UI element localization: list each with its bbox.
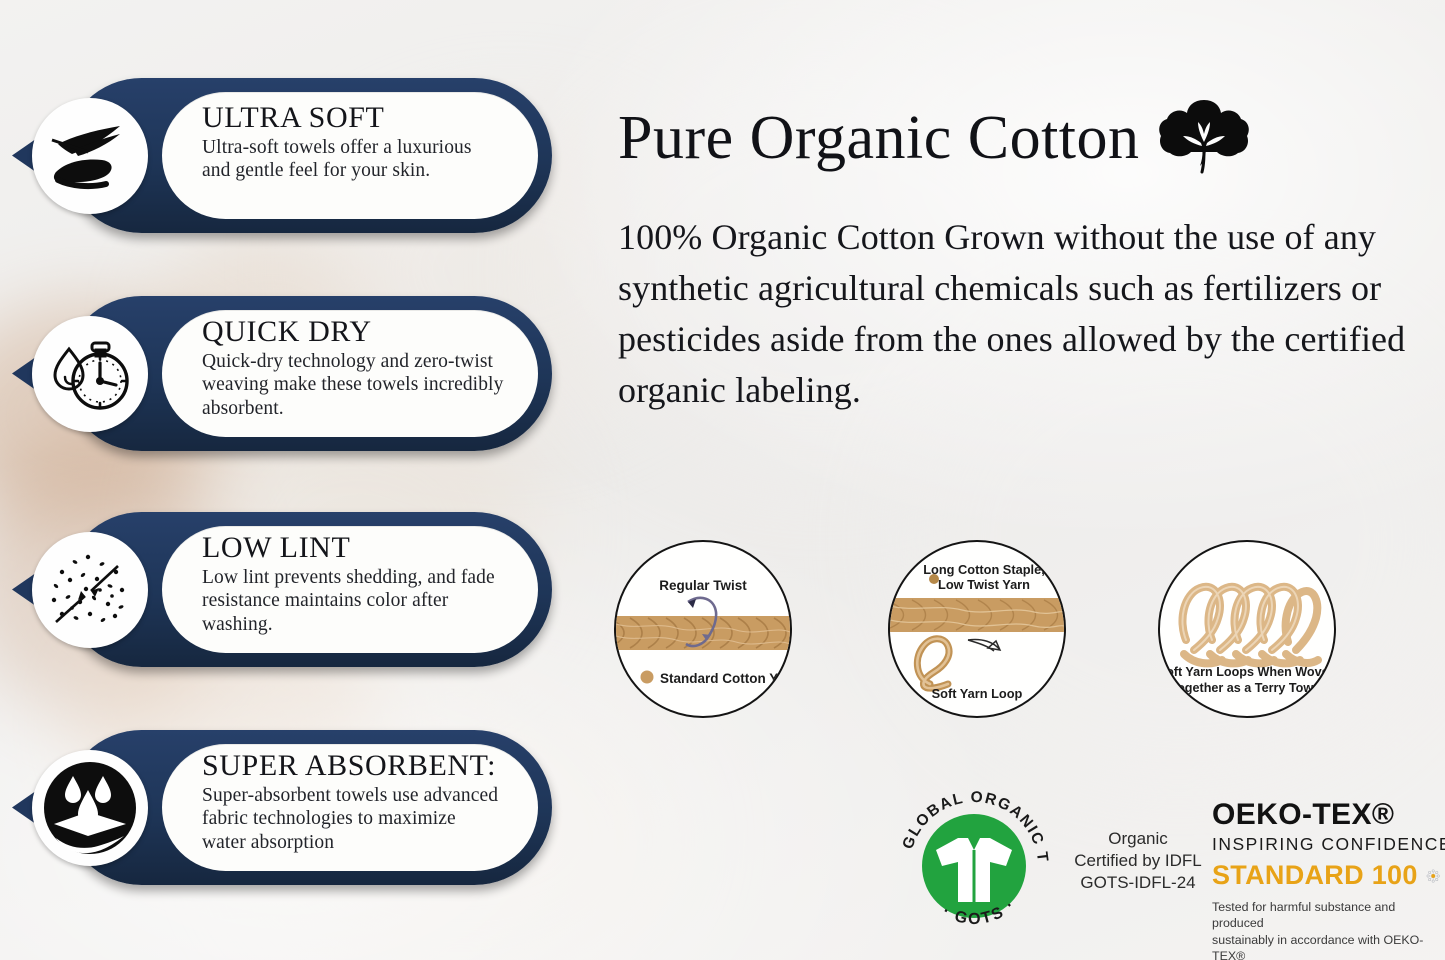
page-title: Pure Organic Cotton bbox=[618, 107, 1140, 169]
headline-row: Pure Organic Cotton bbox=[618, 96, 1252, 180]
badge-title: QUICK DRY bbox=[202, 316, 504, 348]
oekotex-brand: OEKO-TEX® bbox=[1212, 800, 1440, 831]
right-content: Pure Organic Cotton 100% Organic Cotton … bbox=[600, 0, 1445, 960]
yarn-top-label-line1: Long Cotton Staple, bbox=[923, 562, 1045, 577]
badge-panel: LOW LINT Low lint prevents shedding, and… bbox=[162, 526, 538, 653]
yarn-diagram-row: Regular Twist Standard Cotton Yarn bbox=[600, 540, 1445, 720]
oekotex-flower-icon bbox=[1426, 857, 1440, 895]
badge-description: Quick-dry technology and zero-twist weav… bbox=[202, 350, 504, 421]
oekotex-tagline: INSPIRING CONFIDENCE bbox=[1212, 831, 1440, 857]
badge-title: ULTRA SOFT bbox=[202, 102, 504, 134]
badge-description: Low lint prevents shedding, and fade res… bbox=[202, 566, 504, 637]
oekotex-fine-line-2: sustainably in accordance with OEKO-TEX® bbox=[1212, 932, 1440, 960]
yarn-bottom-label: Standard Cotton Yarn bbox=[660, 671, 790, 686]
yarn-bottom-label-line1: Soft Yarn Loops When Woven bbox=[1160, 665, 1334, 679]
gots-certification-info: Organic Certified by IDFL GOTS-IDFL-24 bbox=[1062, 828, 1214, 893]
yarn-bottom-label: Soft Yarn Loop bbox=[932, 686, 1023, 701]
feature-badge-ultra-soft[interactable]: ULTRA SOFT Ultra-soft towels offer a lux… bbox=[12, 78, 552, 233]
gots-info-line-3: GOTS-IDFL-24 bbox=[1062, 872, 1214, 894]
badge-title: SUPER ABSORBENT: bbox=[202, 750, 504, 782]
lint-particles-icon bbox=[32, 532, 148, 648]
badge-panel: SUPER ABSORBENT: Super-absorbent towels … bbox=[162, 744, 538, 871]
certification-row: GLOBAL ORGANIC TEXTILE STANDARD · GOTS ·… bbox=[600, 780, 1445, 960]
badge-panel: QUICK DRY Quick-dry technology and zero-… bbox=[162, 310, 538, 437]
yarn-bottom-label-line2: Together as a Terry Towel bbox=[1170, 681, 1323, 695]
feature-badge-quick-dry[interactable]: QUICK DRY Quick-dry technology and zero-… bbox=[12, 296, 552, 451]
feather-in-hand-icon bbox=[32, 98, 148, 214]
oekotex-certification: OEKO-TEX® INSPIRING CONFIDENCE STANDARD … bbox=[1212, 800, 1440, 960]
oekotex-fine-line-1: Tested for harmful substance and produce… bbox=[1212, 899, 1440, 932]
yarn-diagram-regular-twist: Regular Twist Standard Cotton Yarn bbox=[614, 540, 792, 718]
yarn-diagram-terry-loops: Soft Yarn Loops When Woven Together as a… bbox=[1158, 540, 1336, 718]
water-droplets-fabric-icon bbox=[32, 750, 148, 866]
gots-info-line-2: Certified by IDFL bbox=[1062, 850, 1214, 872]
yarn-top-label: Regular Twist bbox=[659, 578, 747, 593]
feature-badge-list: ULTRA SOFT Ultra-soft towels offer a lux… bbox=[0, 0, 600, 960]
badge-description: Super-absorbent towels use advanced fabr… bbox=[202, 784, 504, 855]
intro-paragraph: 100% Organic Cotton Grown without the us… bbox=[618, 212, 1426, 416]
badge-title: LOW LINT bbox=[202, 532, 504, 564]
yarn-diagram-low-twist: Long Cotton Staple, Low Twist Yarn Soft … bbox=[888, 540, 1066, 718]
yarn-top-label-line2: Low Twist Yarn bbox=[938, 577, 1030, 592]
gots-seal-icon: GLOBAL ORGANIC TEXTILE STANDARD · GOTS · bbox=[892, 784, 1056, 948]
badge-description: Ultra-soft towels offer a luxurious and … bbox=[202, 136, 504, 184]
gots-info-line-1: Organic bbox=[1062, 828, 1214, 850]
stopwatch-droplet-icon bbox=[32, 316, 148, 432]
cotton-boll-icon bbox=[1156, 96, 1252, 180]
feature-badge-super-absorbent[interactable]: SUPER ABSORBENT: Super-absorbent towels … bbox=[12, 730, 552, 885]
feature-badge-low-lint[interactable]: LOW LINT Low lint prevents shedding, and… bbox=[12, 512, 552, 667]
oekotex-standard: STANDARD 100 bbox=[1212, 861, 1418, 891]
infographic-canvas: ULTRA SOFT Ultra-soft towels offer a lux… bbox=[0, 0, 1445, 960]
badge-panel: ULTRA SOFT Ultra-soft towels offer a lux… bbox=[162, 92, 538, 219]
